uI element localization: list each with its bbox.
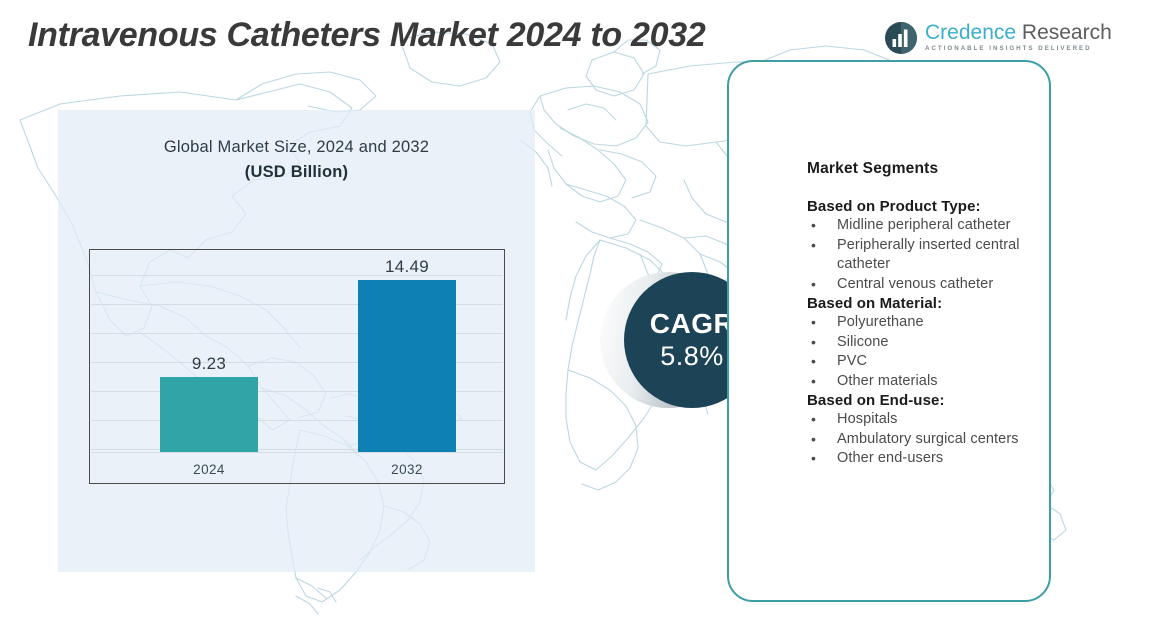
page-title: Intravenous Catheters Market 2024 to 203… (28, 16, 705, 55)
list-item-label: Ambulatory surgical centers (837, 431, 1019, 447)
list-item-label: Polyurethane (837, 314, 924, 330)
segment-list: •Hospitals •Ambulatory surgical centers … (807, 410, 1052, 469)
bullet-icon: • (811, 333, 816, 353)
list-item: •Silicone (807, 333, 1052, 353)
bullet-icon: • (811, 236, 816, 256)
segment-group-title: Based on End-use: (807, 392, 1052, 409)
infographic-page: Intravenous Catheters Market 2024 to 203… (0, 0, 1160, 617)
list-item: •Other end-users (807, 449, 1052, 469)
logo-tagline: Actionable Insights Delivered (925, 45, 1112, 52)
segment-list: •Midline peripheral catheter •Peripheral… (807, 216, 1052, 294)
cagr-label: CAGR (650, 308, 734, 340)
chart-subtitle-line1: Global Market Size, 2024 and 2032 (58, 138, 535, 157)
segment-group-title: Based on Product Type: (807, 198, 1052, 215)
credence-research-logo: Credence Research Actionable Insights De… (884, 20, 1074, 60)
list-item: •Midline peripheral catheter (807, 216, 1052, 236)
list-item-label: Other end-users (837, 450, 943, 466)
bullet-icon: • (811, 410, 816, 430)
list-item: •Central venous catheter (807, 275, 1052, 295)
list-item-label: Central venous catheter (837, 276, 993, 292)
bar-2032 (358, 280, 456, 452)
logo-name-secondary: Research (1016, 21, 1112, 44)
list-item: •Other materials (807, 372, 1052, 392)
segment-group-end-use: Based on End-use: •Hospitals •Ambulatory… (807, 392, 1052, 469)
bullet-icon: • (811, 275, 816, 295)
bar-chart: 9.23 14.49 2024 2032 (89, 249, 505, 484)
list-item: •Ambulatory surgical centers (807, 430, 1052, 450)
bullet-icon: • (811, 313, 816, 333)
segment-list: •Polyurethane •Silicone •PVC •Other mate… (807, 313, 1052, 391)
list-item-label: Other materials (837, 373, 938, 389)
list-item: •PVC (807, 352, 1052, 372)
bar-category-2032: 2032 (358, 462, 456, 477)
list-item: •Polyurethane (807, 313, 1052, 333)
axis-baseline (91, 452, 503, 453)
bar-2024 (160, 377, 258, 452)
cagr-value: 5.8% (660, 340, 724, 372)
bullet-icon: • (811, 449, 816, 469)
list-item-label: Midline peripheral catheter (837, 217, 1011, 233)
logo-text: Credence Research Actionable Insights De… (925, 20, 1112, 52)
market-segments-heading: Market Segments (807, 160, 1052, 178)
bar-chart-circle-icon (884, 21, 918, 55)
bullet-icon: • (811, 352, 816, 372)
segment-group-title: Based on Material: (807, 295, 1052, 312)
bar-value-2024: 9.23 (160, 354, 258, 374)
list-item-label: Hospitals (837, 411, 898, 427)
list-item-label: PVC (837, 353, 867, 369)
bullet-icon: • (811, 216, 816, 236)
logo-name-primary: Credence (925, 21, 1016, 44)
market-segments-content: Market Segments Based on Product Type: •… (807, 160, 1052, 470)
list-item-label: Peripherally inserted central catheter (837, 237, 1020, 273)
bullet-icon: • (811, 372, 816, 392)
bar-value-2032: 14.49 (358, 257, 456, 277)
list-item-label: Silicone (837, 334, 889, 350)
chart-subtitle-line2: (USD Billion) (58, 163, 535, 182)
bar-category-2024: 2024 (160, 462, 258, 477)
bullet-icon: • (811, 430, 816, 450)
list-item: •Peripherally inserted central catheter (807, 236, 1052, 275)
segment-group-product-type: Based on Product Type: •Midline peripher… (807, 198, 1052, 294)
segment-group-material: Based on Material: •Polyurethane •Silico… (807, 295, 1052, 391)
list-item: •Hospitals (807, 410, 1052, 430)
